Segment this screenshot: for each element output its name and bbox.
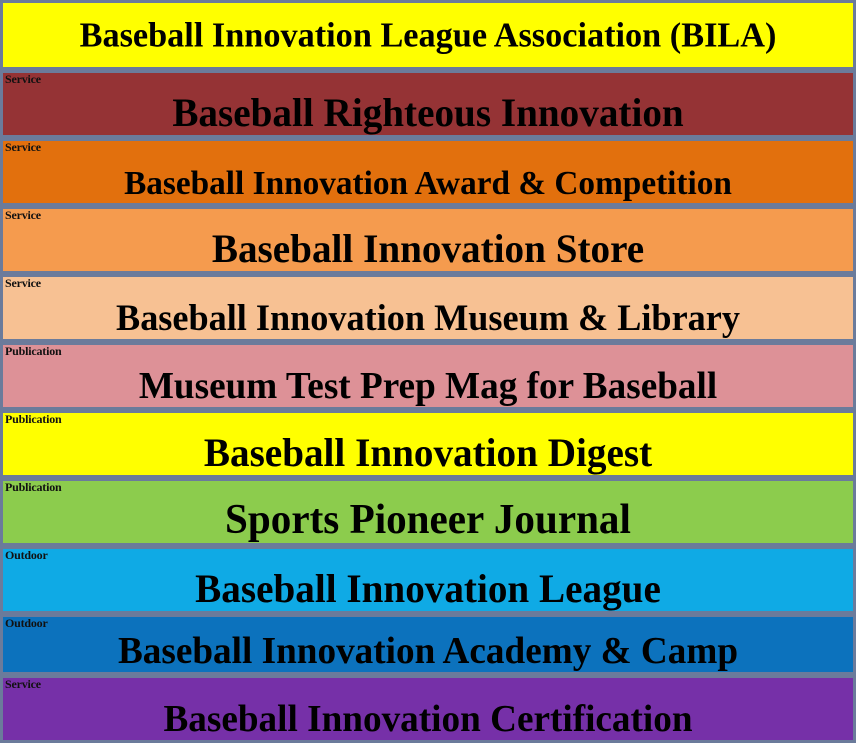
treemap-band[interactable]: PublicationBaseball Innovation Digest xyxy=(0,410,856,478)
band-category-label: Outdoor xyxy=(5,549,48,562)
treemap-band[interactable]: PublicationSports Pioneer Journal xyxy=(0,478,856,546)
band-title-label: Baseball Innovation League xyxy=(12,569,844,609)
band-title-label: Baseball Righteous Innovation xyxy=(12,93,844,133)
band-category-label: Service xyxy=(5,209,41,222)
treemap-band[interactable]: ServiceBaseball Innovation Store xyxy=(0,206,856,274)
treemap-band[interactable]: OutdoorBaseball Innovation League xyxy=(0,546,856,614)
band-category-label: Publication xyxy=(5,413,61,426)
treemap-root-band[interactable]: Baseball Innovation League Association (… xyxy=(0,0,856,70)
treemap-diagram: Baseball Innovation League Association (… xyxy=(0,0,856,743)
treemap-band[interactable]: PublicationMuseum Test Prep Mag for Base… xyxy=(0,342,856,410)
band-title-label: Baseball Innovation League Association (… xyxy=(12,18,844,53)
band-category-label: Service xyxy=(5,277,41,290)
band-category-label: Service xyxy=(5,678,41,691)
band-category-label: Service xyxy=(5,141,41,154)
band-category-label: Publication xyxy=(5,481,61,494)
band-title-label: Museum Test Prep Mag for Baseball xyxy=(12,367,844,405)
band-title-label: Baseball Innovation Award & Competition xyxy=(12,167,844,201)
treemap-band[interactable]: ServiceBaseball Innovation Award & Compe… xyxy=(0,138,856,206)
band-category-label: Publication xyxy=(5,345,61,358)
band-title-label: Baseball Innovation Store xyxy=(12,229,844,269)
band-category-label: Service xyxy=(5,73,41,86)
band-title-label: Baseball Innovation Museum & Library xyxy=(12,300,844,337)
treemap-band[interactable]: ServiceBaseball Innovation Certification xyxy=(0,675,856,743)
treemap-band[interactable]: OutdoorBaseball Innovation Academy & Cam… xyxy=(0,614,856,675)
treemap-band[interactable]: ServiceBaseball Innovation Museum & Libr… xyxy=(0,274,856,342)
band-title-label: Sports Pioneer Journal xyxy=(12,499,844,541)
band-category-label: Outdoor xyxy=(5,617,48,630)
band-title-label: Baseball Innovation Certification xyxy=(12,700,844,738)
band-title-label: Baseball Innovation Digest xyxy=(12,433,844,473)
treemap-band[interactable]: ServiceBaseball Righteous Innovation xyxy=(0,70,856,138)
band-title-label: Baseball Innovation Academy & Camp xyxy=(12,632,844,670)
